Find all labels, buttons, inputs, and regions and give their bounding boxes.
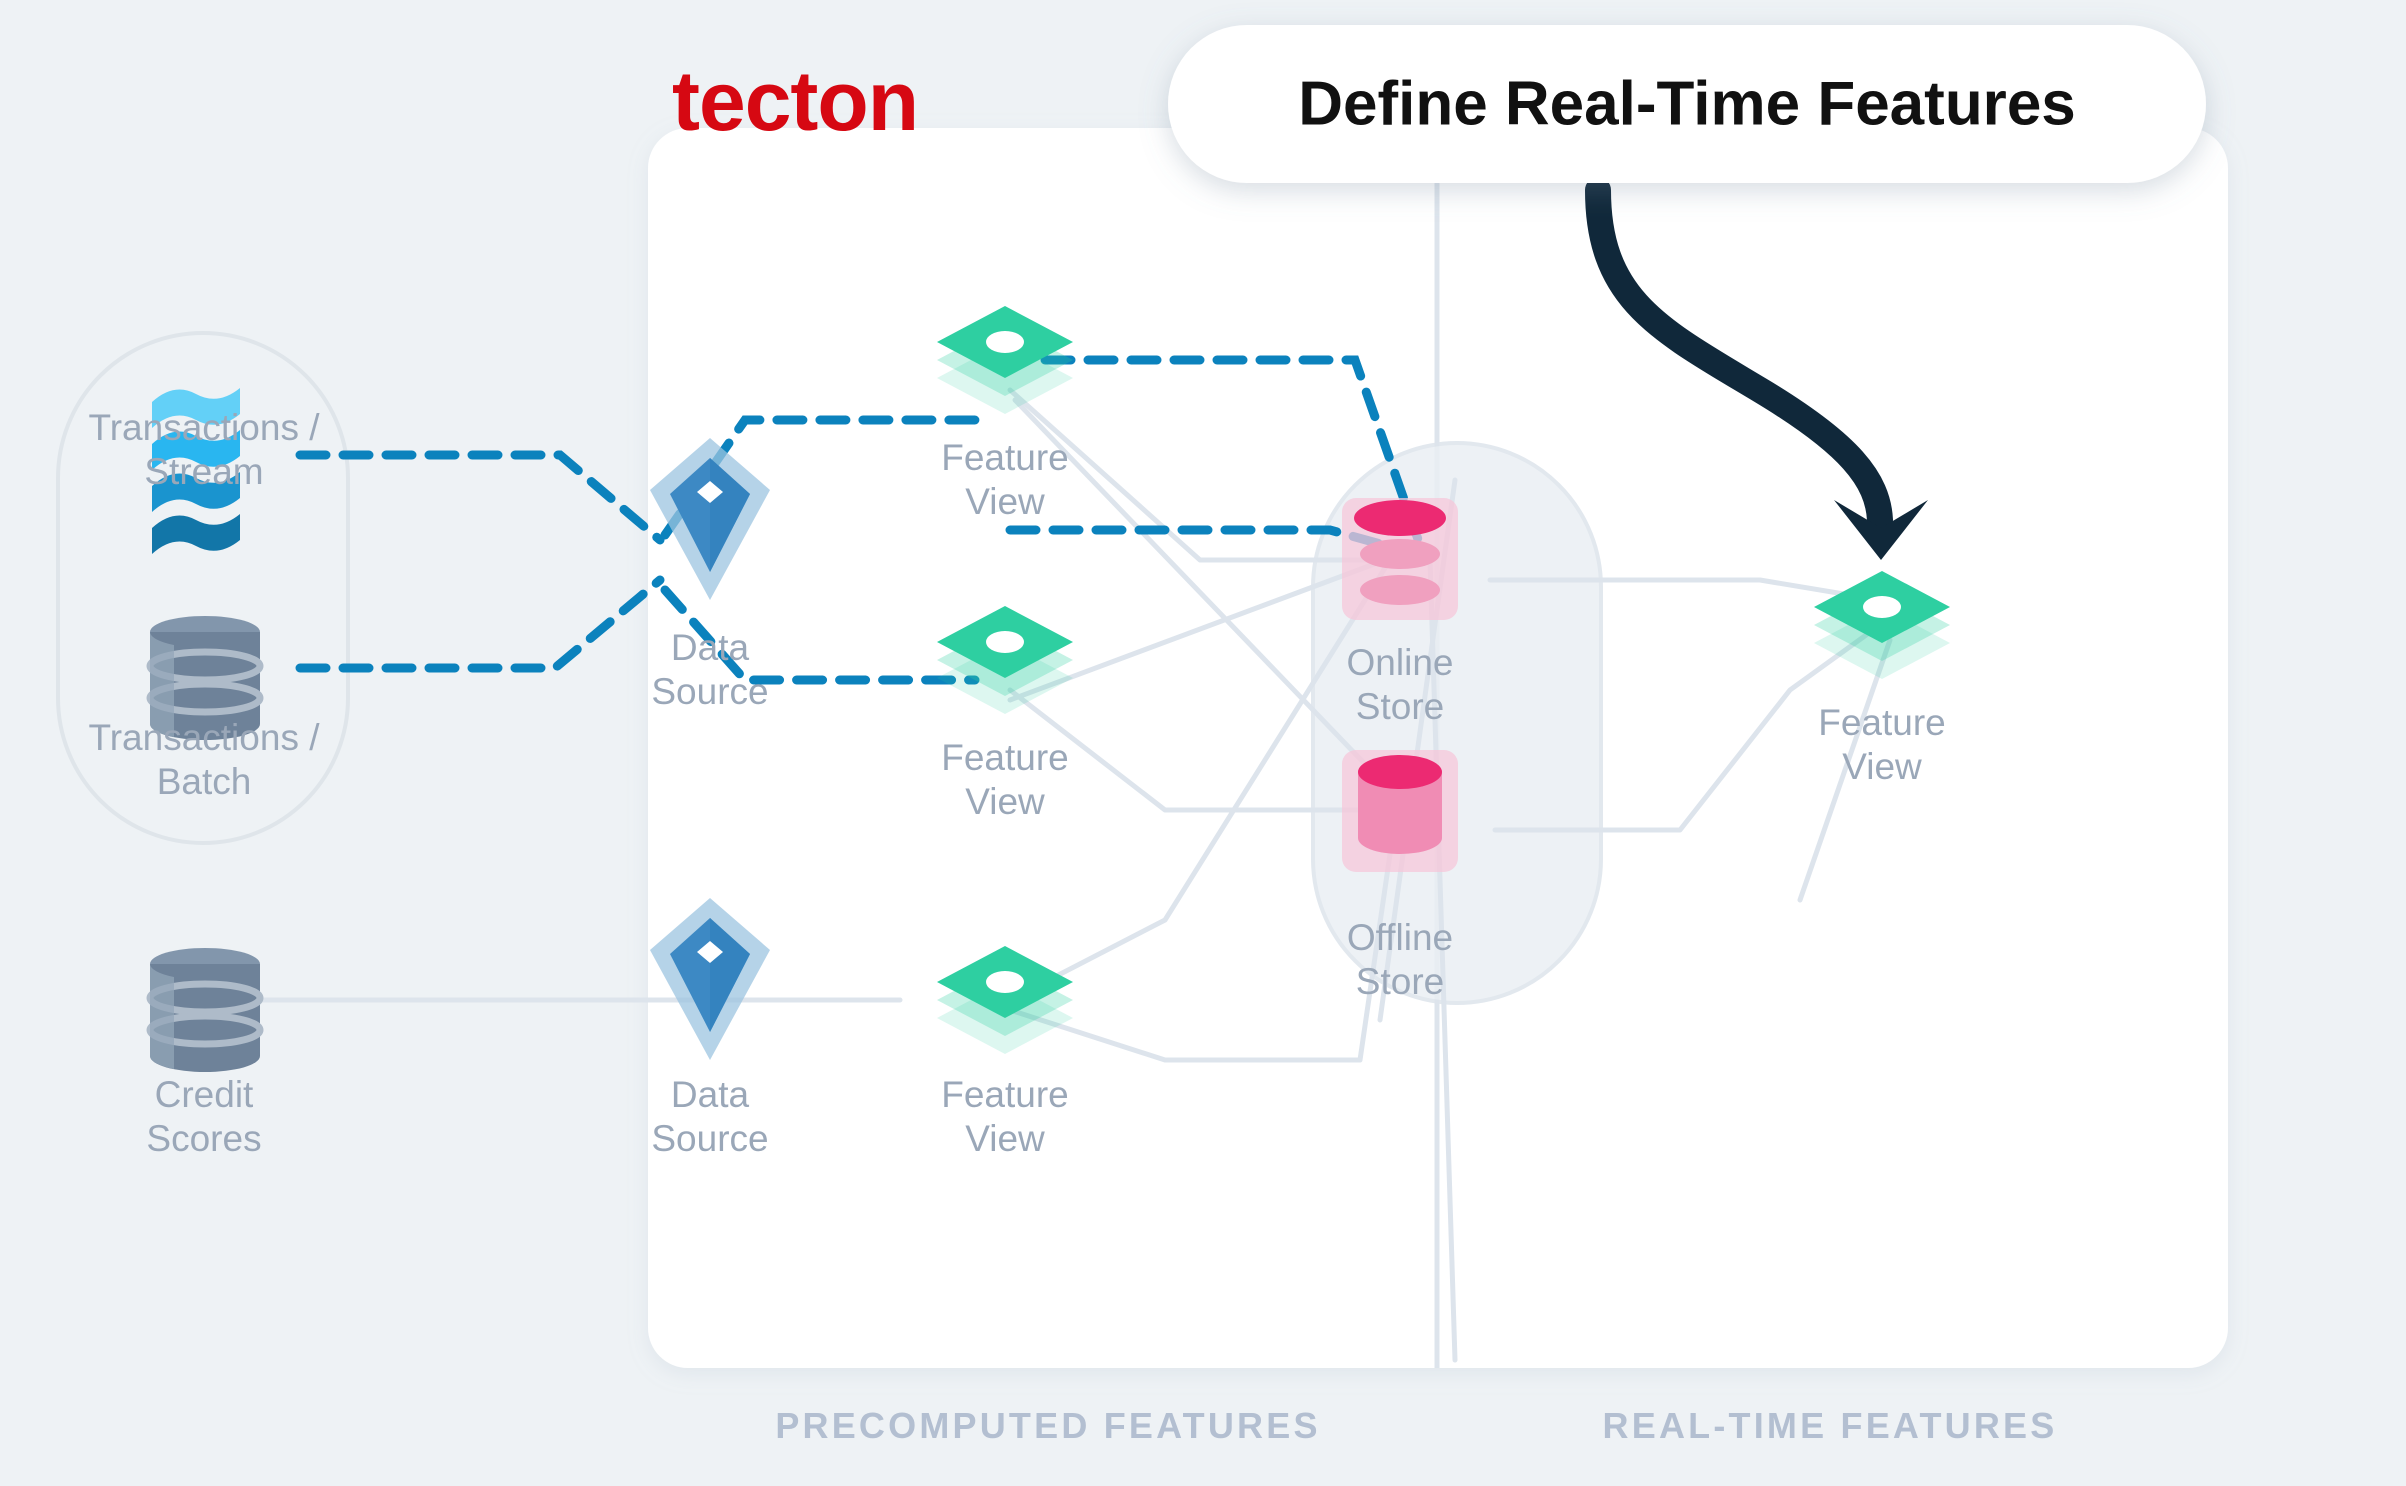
feature-view-label-line1: Feature <box>941 437 1069 478</box>
callout-pill[interactable]: Define Real-Time Features <box>1168 25 2206 183</box>
store-label-line2: Store <box>1356 686 1444 727</box>
source-label-line2: Batch <box>157 761 252 802</box>
feature-view-label-line1: Feature <box>941 1074 1069 1115</box>
offline-store-cylinder-icon <box>1342 750 1458 872</box>
data-source-label-line2: Source <box>651 1118 768 1159</box>
data-source-label-line2: Source <box>651 671 768 712</box>
node-online-store[interactable]: Online Store <box>1342 498 1458 727</box>
source-label-line2: Stream <box>144 451 263 492</box>
source-label-line2: Scores <box>146 1118 261 1159</box>
source-label-line1: Credit <box>155 1074 254 1115</box>
store-label-line1: Offline <box>1347 917 1453 958</box>
database-cylinder-icon <box>150 948 260 1072</box>
tecton-logo[interactable]: tecton <box>672 54 918 148</box>
feature-view-label-line2: View <box>965 481 1045 522</box>
architecture-diagram: Transactions / Stream Transactions / Bat… <box>0 0 2406 1486</box>
data-source-label-line1: Data <box>671 1074 750 1115</box>
zone-label-realtime: REAL-TIME FEATURES <box>1603 1405 2058 1446</box>
diagram-canvas: Transactions / Stream Transactions / Bat… <box>0 0 2406 1486</box>
feature-view-label-line2: View <box>1842 746 1922 787</box>
data-source-label-line1: Data <box>671 627 750 668</box>
feature-view-label-line2: View <box>965 781 1045 822</box>
store-label-line1: Online <box>1347 642 1454 683</box>
callout-label: Define Real-Time Features <box>1298 69 2076 138</box>
source-node-credit-scores[interactable]: Credit Scores <box>146 948 261 1159</box>
source-label-line1: Transactions / <box>89 407 321 448</box>
feature-view-label-line2: View <box>965 1118 1045 1159</box>
online-store-cylinder-icon <box>1342 498 1458 620</box>
feature-view-label-line1: Feature <box>1818 702 1946 743</box>
store-label-line2: Store <box>1356 961 1444 1002</box>
feature-view-label-line1: Feature <box>941 737 1069 778</box>
source-label-line1: Transactions / <box>89 717 321 758</box>
tecton-logo-text: tecton <box>672 54 918 148</box>
zone-label-precomputed: PRECOMPUTED FEATURES <box>775 1405 1320 1446</box>
